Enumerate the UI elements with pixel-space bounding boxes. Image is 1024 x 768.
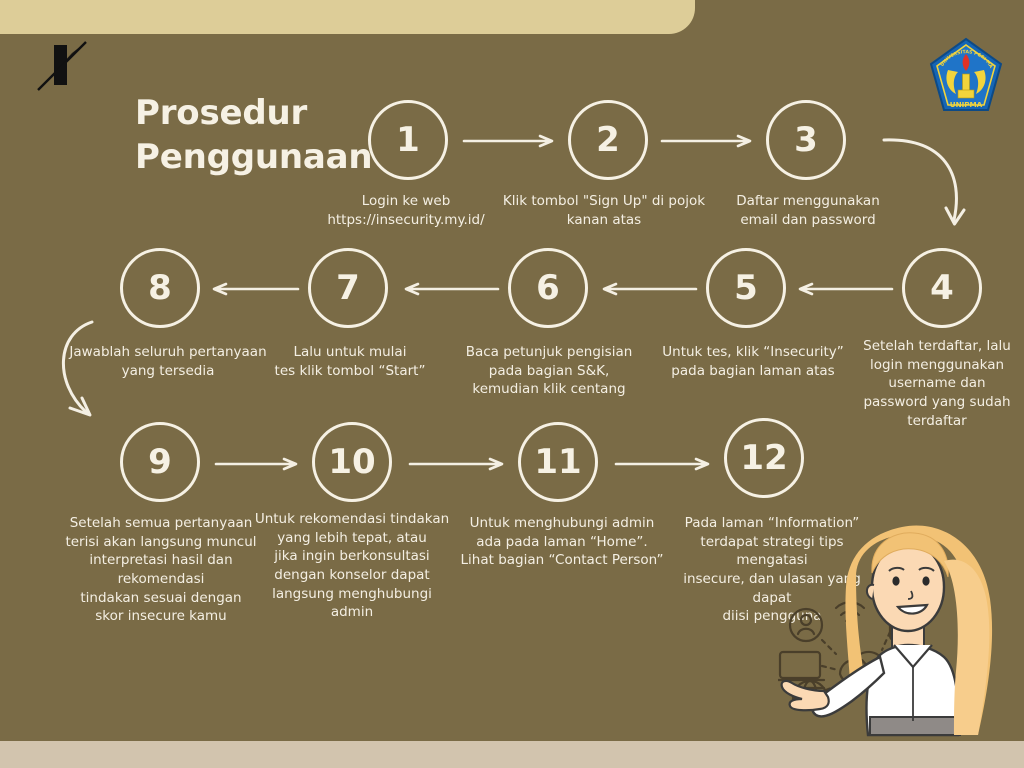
step-circle-5[interactable]: 5 bbox=[706, 248, 786, 328]
title-line-1: Prosedur bbox=[135, 93, 307, 133]
arrow-3-to-4 bbox=[878, 128, 988, 242]
step-caption-10: Untuk rekomendasi tindakan yang lebih te… bbox=[252, 510, 452, 622]
step-number-5: 5 bbox=[734, 271, 758, 305]
step-number-12: 12 bbox=[740, 441, 787, 475]
step-number-3: 3 bbox=[794, 123, 818, 157]
step-number-2: 2 bbox=[596, 123, 620, 157]
arrow-9-to-10 bbox=[214, 456, 306, 470]
step-caption-1: Login ke web https://insecurity.my.id/ bbox=[316, 192, 496, 229]
arrow-7-to-8 bbox=[212, 281, 300, 295]
unipma-crest-logo: UNIPMA UNIVERSITAS PGRI MADIUN bbox=[928, 36, 1004, 116]
step-caption-9: Setelah semua pertanyaan terisi akan lan… bbox=[48, 514, 274, 626]
step-number-9: 9 bbox=[148, 445, 172, 479]
arrow-2-to-3 bbox=[660, 133, 760, 147]
step-circle-12[interactable]: 12 bbox=[724, 418, 804, 498]
step-circle-1[interactable]: 1 bbox=[368, 100, 448, 180]
step-number-4: 4 bbox=[930, 271, 954, 305]
step-caption-2: Klik tombol "Sign Up" di pojok kanan ata… bbox=[500, 192, 708, 229]
woman-presenter-illustration bbox=[764, 521, 1024, 741]
step-caption-7: Lalu untuk mulai tes klik tombol “Start” bbox=[262, 343, 438, 380]
arrow-5-to-6 bbox=[602, 281, 698, 295]
step-caption-11: Untuk menghubungi admin ada pada laman “… bbox=[456, 514, 668, 570]
arrow-1-to-2 bbox=[462, 133, 562, 147]
step-circle-6[interactable]: 6 bbox=[508, 248, 588, 328]
crest-label: UNIPMA bbox=[950, 100, 983, 109]
step-number-6: 6 bbox=[536, 271, 560, 305]
arrow-6-to-7 bbox=[404, 281, 500, 295]
step-circle-11[interactable]: 11 bbox=[518, 422, 598, 502]
step-caption-4: Setelah terdaftar, lalu login menggunaka… bbox=[852, 337, 1022, 430]
step-caption-3: Daftar menggunakan email dan password bbox=[715, 192, 901, 229]
step-circle-9[interactable]: 9 bbox=[120, 422, 200, 502]
arrow-4-to-5 bbox=[798, 281, 894, 295]
step-circle-2[interactable]: 2 bbox=[568, 100, 648, 180]
arrow-10-to-11 bbox=[408, 456, 512, 470]
step-circle-4[interactable]: 4 bbox=[902, 248, 982, 328]
step-caption-5: Untuk tes, klik “Insecurity” pada bagian… bbox=[658, 343, 848, 380]
insecurity-i-logo bbox=[30, 33, 92, 95]
step-number-8: 8 bbox=[148, 271, 172, 305]
step-circle-10[interactable]: 10 bbox=[312, 422, 392, 502]
step-number-11: 11 bbox=[534, 445, 581, 479]
step-caption-6: Baca petunjuk pengisian pada bagian S&K,… bbox=[458, 343, 640, 399]
title-line-2: Penggunaan bbox=[135, 136, 395, 180]
arrow-8-to-9 bbox=[42, 312, 152, 436]
step-number-10: 10 bbox=[328, 445, 375, 479]
bottom-accent-band bbox=[0, 741, 1024, 768]
arrow-11-to-12 bbox=[614, 456, 718, 470]
step-number-7: 7 bbox=[336, 271, 360, 305]
infographic-poster: UNIPMA UNIVERSITAS PGRI MADIUN Prosedur … bbox=[0, 0, 1024, 768]
step-circle-3[interactable]: 3 bbox=[766, 100, 846, 180]
step-circle-7[interactable]: 7 bbox=[308, 248, 388, 328]
top-accent-banner bbox=[0, 0, 695, 34]
step-number-1: 1 bbox=[396, 123, 420, 157]
page-title: Prosedur Penggunaan bbox=[135, 92, 395, 179]
